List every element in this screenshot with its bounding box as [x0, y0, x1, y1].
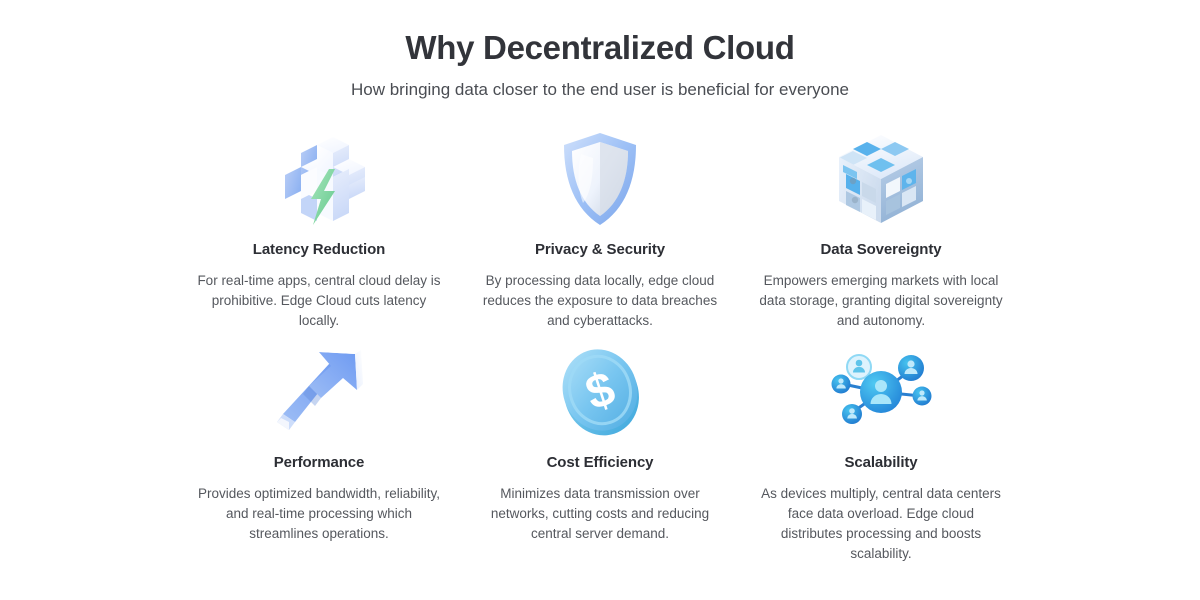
feature-card-latency-reduction: Latency Reduction For real-time apps, ce…	[179, 127, 460, 331]
feature-card-data-sovereignty: Data Sovereignty Empowers emerging marke…	[741, 127, 1022, 331]
shield-icon	[545, 127, 655, 231]
feature-title: Privacy & Security	[535, 241, 665, 258]
feature-title: Cost Efficiency	[547, 454, 654, 471]
features-grid-row-2: Performance Provides optimized bandwidth…	[0, 342, 1200, 564]
feature-title: Data Sovereignty	[821, 241, 942, 258]
network-nodes-icon	[826, 342, 936, 438]
feature-title: Performance	[274, 454, 365, 471]
feature-description: By processing data locally, edge cloud r…	[477, 271, 723, 331]
lightning-cube-icon	[264, 127, 374, 231]
feature-description: Empowers emerging markets with local dat…	[758, 271, 1004, 331]
feature-title: Scalability	[844, 454, 917, 471]
feature-description: For real-time apps, central cloud delay …	[196, 271, 442, 331]
puzzle-cube-icon	[826, 127, 936, 231]
feature-description: As devices multiply, central data center…	[758, 484, 1004, 564]
section-header: Why Decentralized Cloud How bringing dat…	[0, 28, 1200, 101]
feature-section: Why Decentralized Cloud How bringing dat…	[0, 0, 1200, 600]
dollar-coin-icon: $	[545, 342, 655, 438]
feature-card-privacy-security: Privacy & Security By processing data lo…	[460, 127, 741, 331]
features-grid-row-1: Latency Reduction For real-time apps, ce…	[0, 127, 1200, 331]
page-title: Why Decentralized Cloud	[0, 28, 1200, 68]
feature-card-cost-efficiency: $ Cost Efficiency Minimizes data transmi…	[460, 342, 741, 564]
feature-card-performance: Performance Provides optimized bandwidth…	[179, 342, 460, 564]
feature-description: Minimizes data transmission over network…	[477, 484, 723, 544]
feature-card-scalability: Scalability As devices multiply, central…	[741, 342, 1022, 564]
feature-description: Provides optimized bandwidth, reliabilit…	[196, 484, 442, 544]
page-subtitle: How bringing data closer to the end user…	[0, 79, 1200, 101]
feature-title: Latency Reduction	[253, 241, 386, 258]
up-arrow-icon	[264, 342, 374, 438]
